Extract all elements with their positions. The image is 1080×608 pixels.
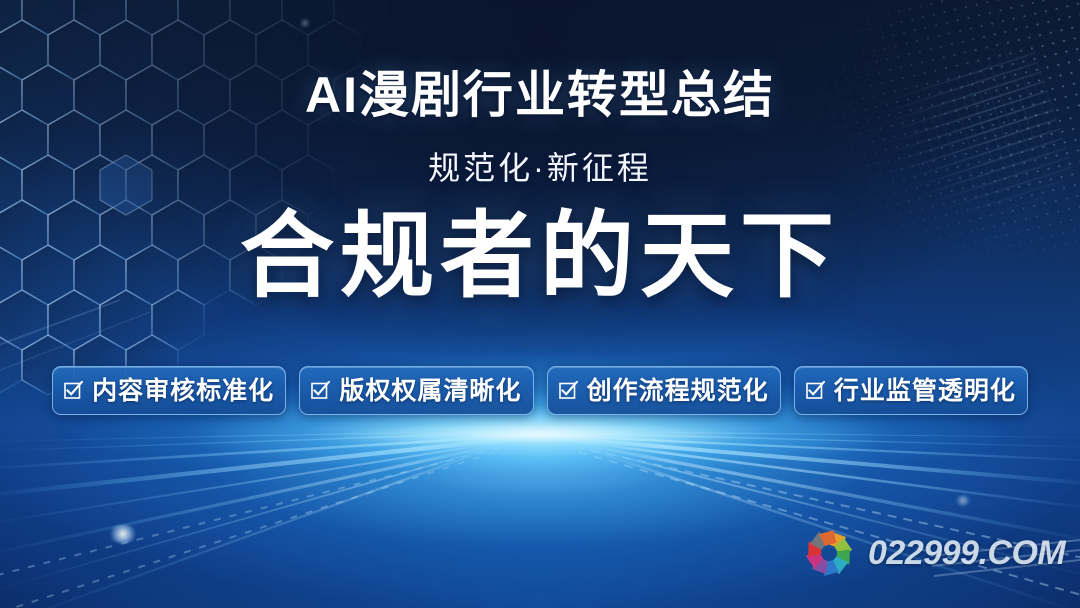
watermark-text: 022999.COM — [868, 534, 1065, 572]
page-subtitle: 规范化·新征程 — [0, 148, 1080, 188]
poster-canvas: AI漫剧行业转型总结 规范化·新征程 合规者的天下 内容审核标准化 — [0, 0, 1080, 608]
poster-content: AI漫剧行业转型总结 规范化·新征程 合规者的天下 内容审核标准化 — [0, 0, 1080, 608]
feature-badge-label: 版权权属清晰化 — [339, 377, 521, 405]
feature-badge[interactable]: 创作流程规范化 — [547, 366, 781, 415]
feature-badge-label: 创作流程规范化 — [587, 377, 769, 405]
watermark: 022999.COM — [800, 524, 1065, 582]
page-headline: 合规者的天下 — [0, 204, 1080, 308]
page-title: AI漫剧行业转型总结 — [0, 66, 1080, 124]
checkbox-checked-icon — [559, 381, 578, 400]
feature-badge-row: 内容审核标准化 版权权属清晰化 创作流程规范 — [52, 366, 1028, 415]
feature-badge-label: 内容审核标准化 — [92, 377, 274, 405]
checkbox-checked-icon — [64, 381, 83, 400]
checkbox-checked-icon — [806, 381, 825, 400]
feature-badge-label: 行业监管透明化 — [834, 377, 1016, 405]
feature-badge[interactable]: 版权权属清晰化 — [299, 366, 533, 415]
checkbox-checked-icon — [311, 381, 330, 400]
feature-badge[interactable]: 内容审核标准化 — [52, 366, 286, 415]
pinwheel-logo-icon — [800, 524, 858, 582]
feature-badge[interactable]: 行业监管透明化 — [794, 366, 1028, 415]
